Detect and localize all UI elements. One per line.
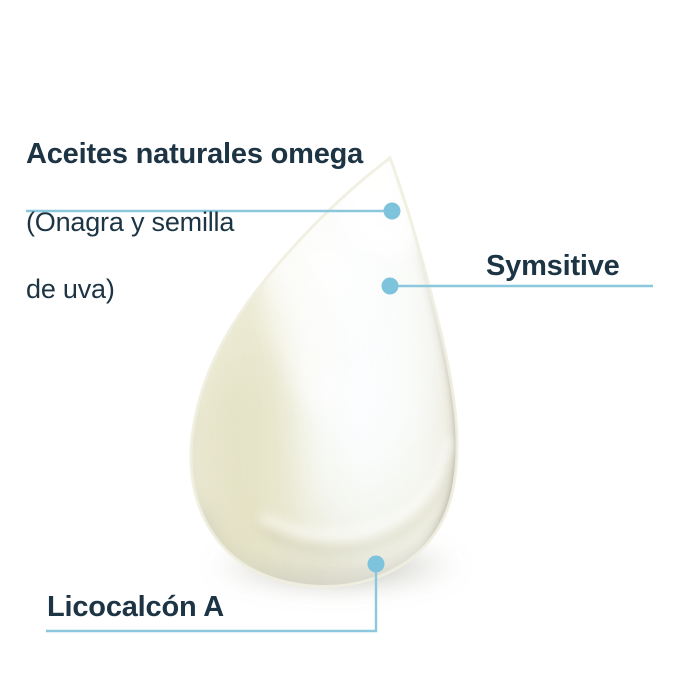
callout-oils-subtitle-line2: de uva) xyxy=(26,274,363,305)
callout-label-licocalcon: Licocalcón A xyxy=(47,590,224,624)
callout-label-oils: Aceites naturales omega (Onagra y semill… xyxy=(26,101,363,341)
callout-oils-subtitle-line1: (Onagra y semilla xyxy=(26,207,363,238)
callout-label-symsitive: Symsitive xyxy=(486,249,620,283)
ingredient-callout-graphic: Aceites naturales omega (Onagra y semill… xyxy=(0,0,700,700)
callout-oils-title: Aceites naturales omega xyxy=(26,137,363,171)
